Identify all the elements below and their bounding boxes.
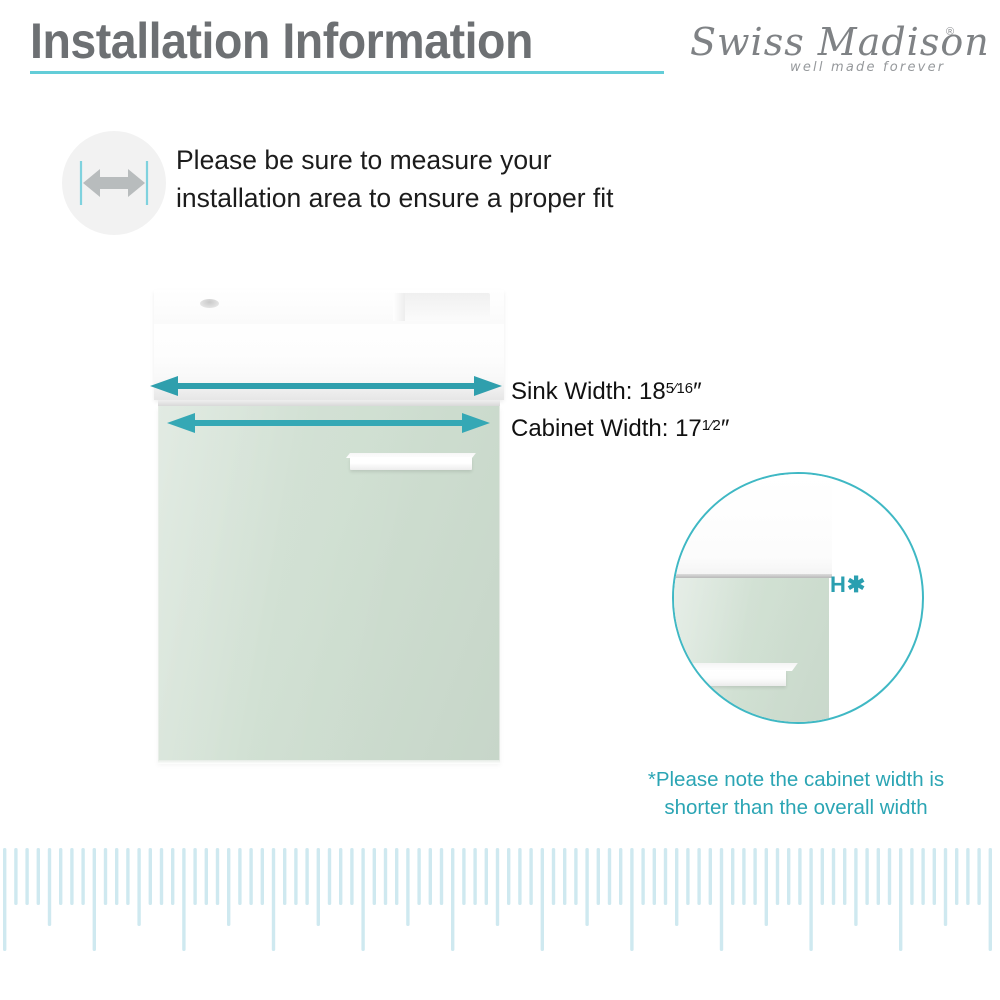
sink-width-caption: Sink Width: [511, 378, 632, 405]
sink-width-fraction: 5⁄16 [666, 381, 693, 397]
sink-width-label: Sink Width: 185⁄16″ [511, 372, 729, 409]
detail-callout-label: H✱ [830, 572, 866, 598]
page-title: Installation Information [30, 12, 533, 70]
sink-width-unit: ″ [693, 378, 702, 405]
vanity-product-illustration [150, 282, 510, 767]
cabinet-width-caption: Cabinet Width: [511, 415, 668, 442]
installation-information-page: Installation Information Swiss Madison ®… [0, 0, 1000, 1000]
cabinet-width-label: Cabinet Width: 171⁄2″ [511, 409, 729, 446]
cabinet-handle [350, 457, 472, 470]
cabinet-width-whole: 17 [675, 415, 702, 442]
cabinet-bottom-edge [158, 760, 500, 764]
sink-basin-interior [395, 293, 490, 321]
measure-instruction-line-1: Please be sure to measure your [176, 141, 614, 179]
brand-name: Swiss Madison [690, 20, 990, 64]
cabinet-width-note-line-1: *Please note the cabinet width is [600, 766, 992, 794]
cabinet-width-fraction: 1⁄2 [702, 418, 721, 434]
cabinet-width-note: *Please note the cabinet width is shorte… [600, 766, 992, 822]
cabinet-width-note-line-2: shorter than the overall width [600, 794, 992, 822]
measure-instruction-line-2: installation area to ensure a proper fit [176, 179, 614, 217]
sink-basin-wall [393, 293, 405, 321]
page-header: Installation Information Swiss Madison ®… [0, 0, 1000, 100]
faucet-hole [200, 299, 219, 308]
cabinet-offset-detail-circle [672, 472, 924, 724]
measure-width-icon [62, 131, 166, 235]
detail-handle [674, 670, 786, 686]
cabinet-width-arrow [165, 411, 492, 440]
sink-width-arrow [148, 374, 504, 403]
sink-width-whole: 18 [639, 378, 666, 405]
brand-tagline: well made forever [790, 60, 945, 75]
ruler-decoration [0, 848, 1000, 1000]
detail-cabinet-face [674, 578, 829, 724]
dimension-labels: Sink Width: 185⁄16″ Cabinet Width: 171⁄2… [511, 372, 729, 446]
registered-trademark-icon: ® [946, 26, 954, 38]
measure-instruction: Please be sure to measure your installat… [176, 141, 614, 217]
cabinet-width-unit: ″ [721, 415, 730, 442]
title-underline [30, 71, 664, 74]
brand-logo: Swiss Madison ® well made forever [690, 20, 970, 82]
detail-sink-edge [674, 474, 832, 578]
detail-cabinet-sheen [674, 578, 829, 724]
